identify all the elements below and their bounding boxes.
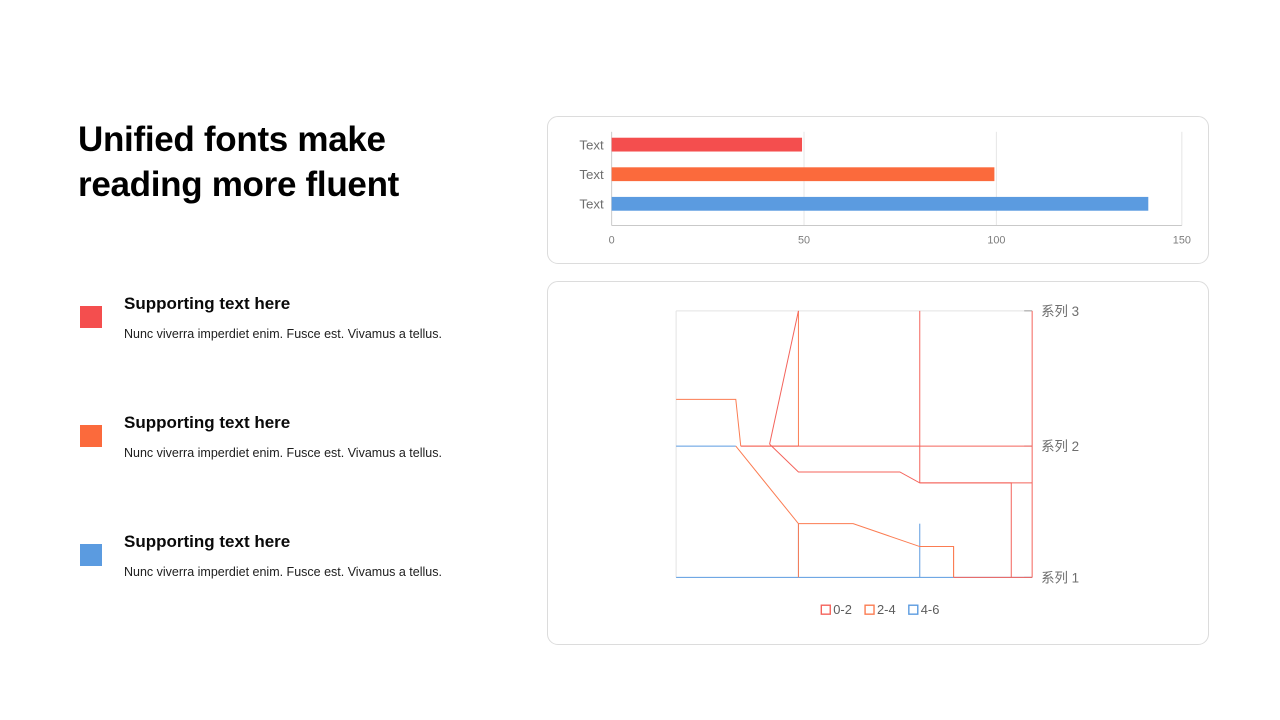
legend-label-0-2: 0-2 xyxy=(833,602,852,617)
legend-swatch-2-4 xyxy=(865,605,874,614)
list-item: Supporting text here Nunc viverra imperd… xyxy=(78,532,478,620)
contour-band-4-6 xyxy=(676,446,1032,577)
bar-xtick-100: 100 xyxy=(987,234,1005,246)
bar-category-label-0: Text xyxy=(579,138,604,153)
bar-chart: Text Text Text 0 50 100 150 xyxy=(548,117,1208,263)
bar-red xyxy=(612,138,802,152)
left-content-column: Unified fonts make reading more fluent S… xyxy=(78,118,478,208)
contour-plot-frame xyxy=(676,311,1032,578)
contour-chart-card: 系列 3 系列 2 系列 1 0-2 2-4 4-6 xyxy=(547,281,1209,645)
bar-orange xyxy=(612,167,995,181)
contour-legend: 0-2 2-4 4-6 xyxy=(821,602,939,617)
contour-chart: 系列 3 系列 2 系列 1 0-2 2-4 4-6 xyxy=(548,282,1208,644)
contour-series-label-2: 系列 2 xyxy=(1041,439,1079,454)
bar-category-label-1: Text xyxy=(579,167,604,182)
contour-series-axis xyxy=(1024,311,1032,578)
bar-xtick-0: 0 xyxy=(609,234,615,246)
legend-swatch-0-2 xyxy=(821,605,830,614)
bar-category-label-2: Text xyxy=(579,197,604,212)
contour-band-0-2 xyxy=(741,311,1032,578)
list-item-heading: Supporting text here xyxy=(124,413,478,433)
contour-series-label-3: 系列 3 xyxy=(1041,304,1079,319)
list-item-heading: Supporting text here xyxy=(124,294,478,314)
bullet-swatch-orange xyxy=(80,425,102,447)
bullet-swatch-red xyxy=(80,306,102,328)
bar-series xyxy=(612,138,1149,211)
legend-label-4-6: 4-6 xyxy=(921,602,940,617)
legend-swatch-4-6 xyxy=(909,605,918,614)
list-item-heading: Supporting text here xyxy=(124,532,478,552)
bar-chart-card: Text Text Text 0 50 100 150 xyxy=(547,116,1209,264)
list-item: Supporting text here Nunc viverra imperd… xyxy=(78,413,478,501)
page-title: Unified fonts make reading more fluent xyxy=(78,118,458,208)
legend-label-2-4: 2-4 xyxy=(877,602,896,617)
bar-blue xyxy=(612,197,1149,211)
supporting-text-list: Supporting text here Nunc viverra imperd… xyxy=(78,294,478,620)
list-item-body: Nunc viverra imperdiet enim. Fusce est. … xyxy=(124,442,459,465)
bar-xtick-50: 50 xyxy=(798,234,810,246)
list-item-body: Nunc viverra imperdiet enim. Fusce est. … xyxy=(124,561,459,584)
contour-band-2-4 xyxy=(676,311,953,578)
list-item: Supporting text here Nunc viverra imperd… xyxy=(78,294,478,382)
list-item-body: Nunc viverra imperdiet enim. Fusce est. … xyxy=(124,323,459,346)
bullet-swatch-blue xyxy=(80,544,102,566)
bar-xtick-150: 150 xyxy=(1173,234,1191,246)
contour-series-label-1: 系列 1 xyxy=(1041,570,1079,585)
